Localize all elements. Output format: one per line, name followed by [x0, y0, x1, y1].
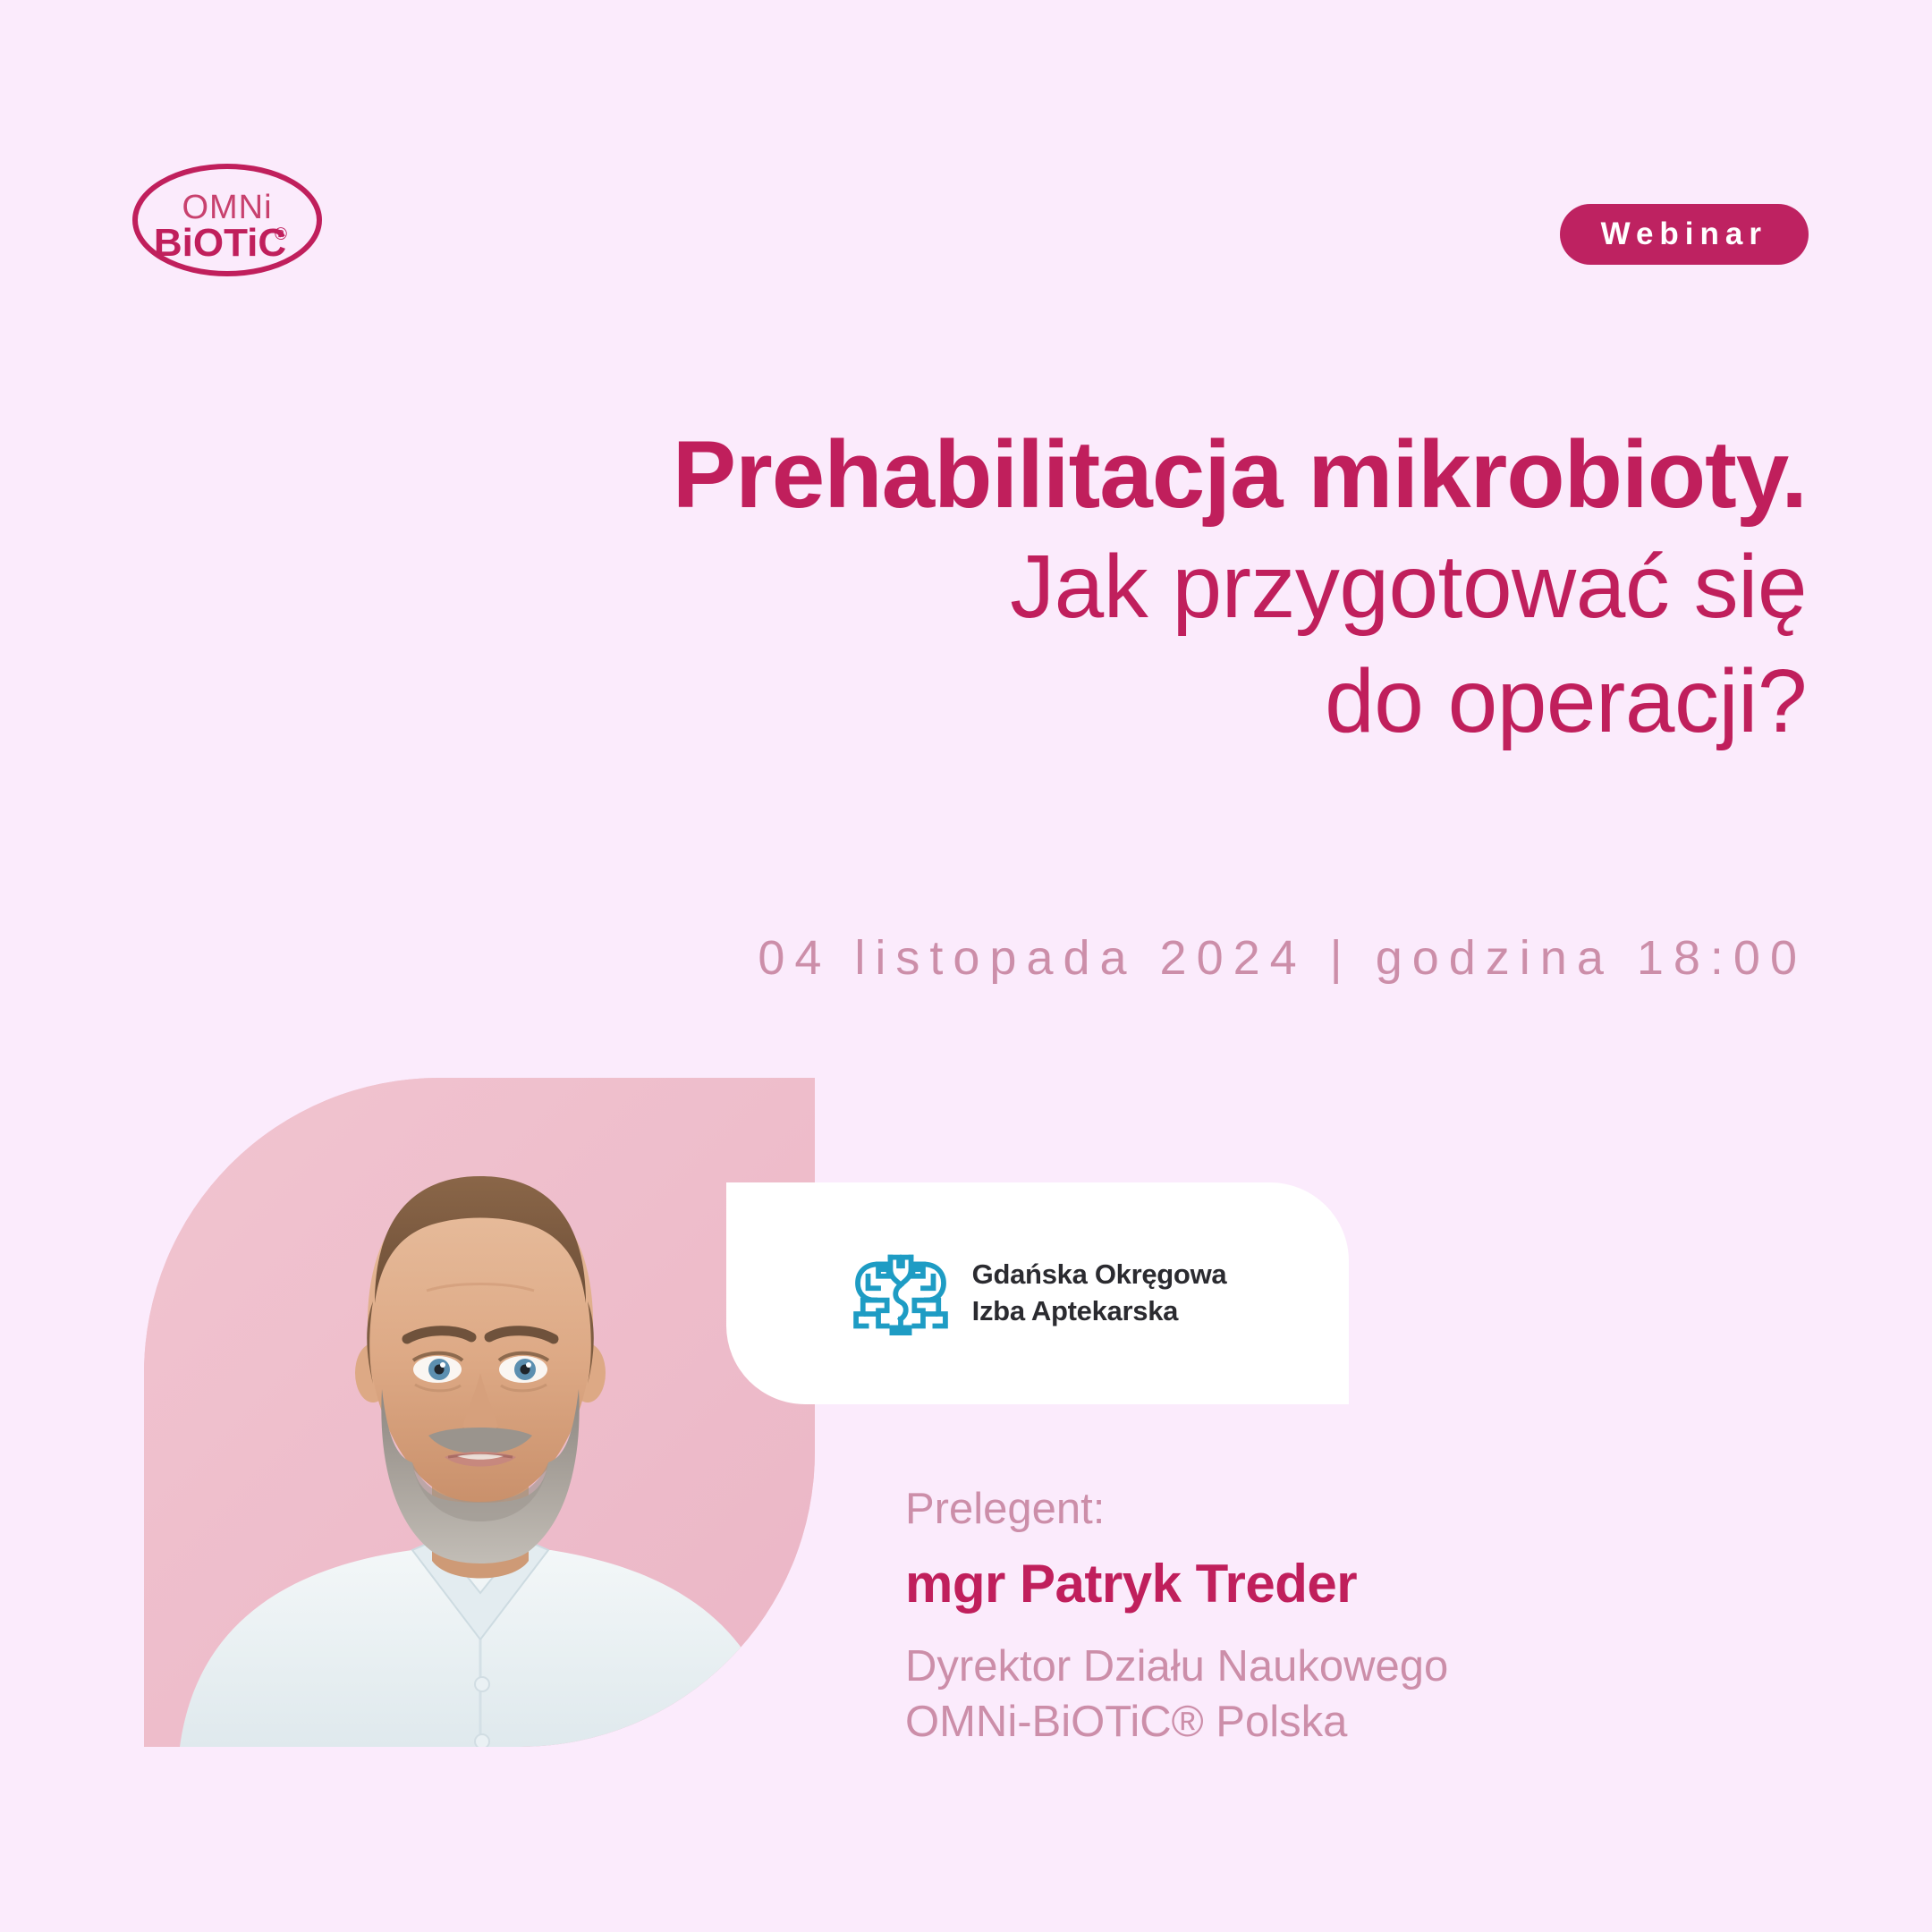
omni-biotic-logo: OMNi BiOTiC ®	[131, 163, 324, 277]
svg-text:®: ®	[275, 225, 287, 244]
headline-line-2: Jak przygotować się	[411, 530, 1807, 644]
speaker-portrait-image	[144, 1078, 815, 1747]
partner-name: Gdańska Okręgowa Izba Aptekarska	[972, 1257, 1227, 1330]
webinar-badge: Webinar	[1560, 204, 1809, 265]
speaker-role-label: Prelegent:	[905, 1483, 1710, 1536]
speaker-name: mgr Patryk Treder	[905, 1552, 1710, 1616]
headline-line-1: Prehabilitacja mikrobioty.	[411, 420, 1807, 530]
gdanska-izba-aptekarska-emblem-icon	[849, 1250, 953, 1336]
headline-line-3: do operacji?	[411, 644, 1807, 758]
svg-text:BiOTiC: BiOTiC	[154, 221, 286, 265]
speaker-info-block: Prelegent: mgr Patryk Treder Dyrektor Dz…	[905, 1483, 1710, 1750]
speaker-photo	[144, 1078, 815, 1747]
event-datetime: 04 listopada 2024 | godzina 18:00	[758, 930, 1807, 986]
headline-block: Prehabilitacja mikrobioty. Jak przygotow…	[411, 420, 1807, 758]
webinar-poster: OMNi BiOTiC ® Webinar Prehabilitacja mik…	[0, 0, 1932, 1932]
partner-card: Gdańska Okręgowa Izba Aptekarska	[726, 1182, 1349, 1404]
speaker-title: Dyrektor Działu Naukowego OMNi-BiOTiC® P…	[905, 1640, 1710, 1750]
